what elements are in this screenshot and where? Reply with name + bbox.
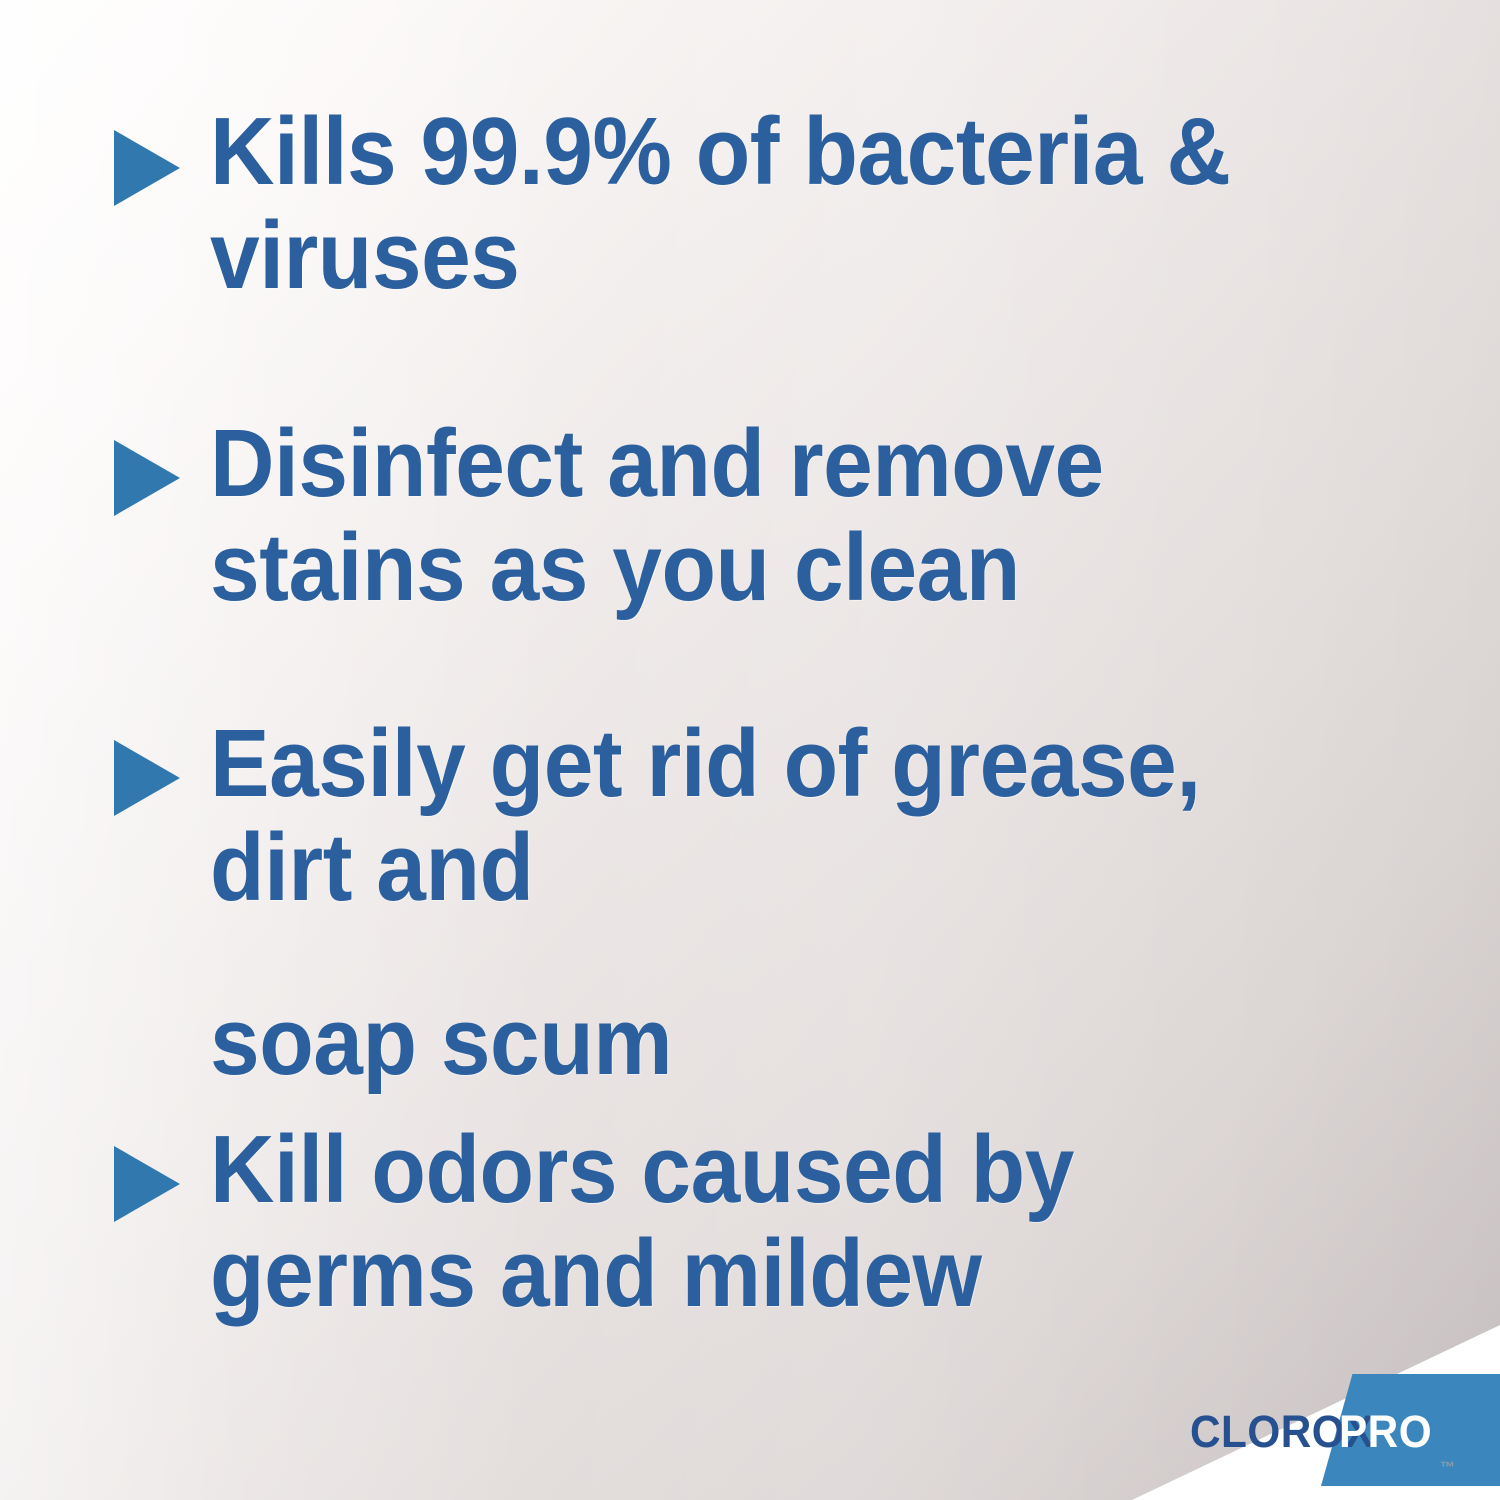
list-item-line: Kill odors caused by — [210, 1118, 1074, 1222]
list-item-line: germs and mildew — [210, 1222, 1074, 1326]
cloroxpro-logo-mark: CLOROX PRO ™ — [1190, 1388, 1500, 1474]
triangle-right-icon — [114, 1146, 180, 1222]
list-item-line: soap scum — [210, 990, 1201, 1094]
list-item-line: Kills 99.9% of bacteria & — [210, 100, 1230, 204]
list-item-line: viruses — [210, 204, 1230, 308]
list-item-text: Disinfect and remove stains as you clean — [210, 412, 1104, 620]
list-item-line: Disinfect and remove — [210, 412, 1104, 516]
triangle-right-icon — [114, 740, 180, 816]
list-item: Kills 99.9% of bacteria & viruses — [0, 100, 1307, 308]
list-item-line: dirt and — [210, 816, 1201, 920]
list-item-text: Easily get rid of grease, dirt and soap … — [210, 712, 1201, 1094]
list-item-line: stains as you clean — [210, 516, 1104, 620]
logo-pro-text: PRO — [1339, 1409, 1432, 1454]
list-item-line: Easily get rid of grease, — [210, 712, 1201, 816]
triangle-right-icon — [114, 130, 180, 206]
triangle-right-icon — [114, 440, 180, 516]
list-item: Easily get rid of grease, dirt and soap … — [0, 712, 1275, 1094]
trademark-symbol: ™ — [1440, 1460, 1456, 1475]
list-item: Kill odors caused by germs and mildew — [0, 1118, 1139, 1326]
benefits-list: Kills 99.9% of bacteria & viruses Disinf… — [0, 0, 1500, 1500]
list-item-text: Kill odors caused by germs and mildew — [210, 1118, 1074, 1326]
poster-canvas: Kills 99.9% of bacteria & viruses Disinf… — [0, 0, 1500, 1500]
brand-logo: CLOROX PRO ™ — [1080, 1325, 1500, 1500]
list-item: Disinfect and remove stains as you clean — [0, 412, 1171, 620]
list-item-text: Kills 99.9% of bacteria & viruses — [210, 100, 1230, 308]
